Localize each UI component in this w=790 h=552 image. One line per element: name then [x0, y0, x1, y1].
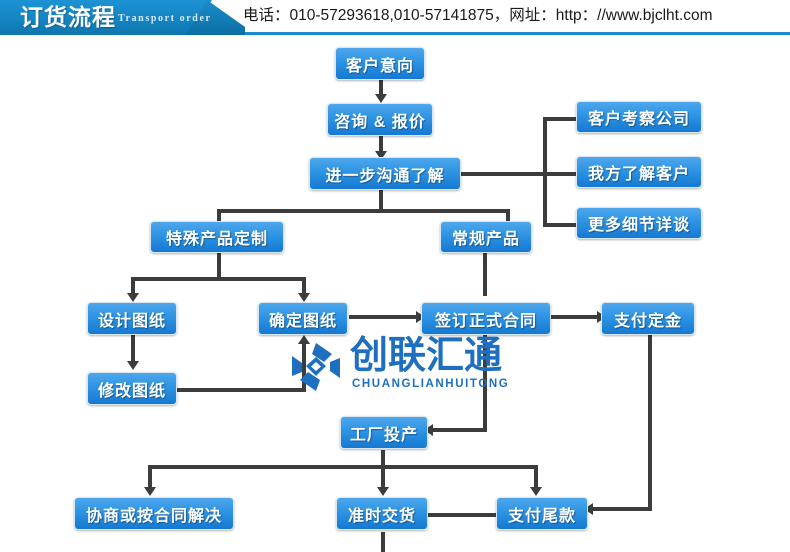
node-confirm-drawing[interactable]: 确定图纸 — [258, 302, 348, 335]
node-consult-quote[interactable]: 咨询 & 报价 — [327, 103, 433, 136]
connector-deposit-to-balance-v — [648, 334, 652, 511]
node-sign-contract[interactable]: 签订正式合同 — [421, 302, 551, 335]
connector-drawing-split-bar — [131, 277, 306, 281]
contact-info: 电话：010-57293618,010-57141875，网址：http：//w… — [243, 4, 713, 28]
connector-branch-customer-visit — [543, 117, 577, 121]
connector-custom-product-down — [217, 252, 221, 280]
connector-design-to-revise — [131, 334, 135, 362]
connector-revise-to-confirm-h — [170, 388, 306, 392]
arrowhead-to-delivery — [377, 487, 389, 496]
connector-to-delivery — [381, 465, 385, 488]
node-customer-intent[interactable]: 客户意向 — [335, 47, 425, 80]
connector-contract-to-factory-v — [483, 334, 487, 432]
connector-delivery-to-balance — [424, 513, 500, 517]
connector-bottom-split-bar — [148, 465, 538, 469]
arrowhead-to-negotiate — [144, 487, 156, 496]
node-pay-balance[interactable]: 支付尾款 — [496, 497, 588, 530]
connector-to-balance — [534, 465, 538, 488]
company-logo: 创联汇通 CHUANGLIANHUITONG — [288, 338, 483, 396]
node-more-details[interactable]: 更多细节详谈 — [576, 207, 702, 239]
connector-contract-to-deposit — [551, 315, 599, 319]
page-header: 订货流程 Transport order 电话：010-57293618,010… — [0, 0, 790, 42]
arrowhead-design-to-revise — [127, 361, 139, 370]
logo-pinwheel-icon — [288, 340, 344, 394]
logo-name-cn: 创联汇通 — [350, 334, 502, 378]
arrowhead-revise-to-confirm — [298, 335, 310, 344]
node-design-drawing[interactable]: 设计图纸 — [87, 302, 177, 335]
connector-to-negotiate — [148, 465, 152, 488]
node-customer-visit[interactable]: 客户考察公司 — [576, 101, 702, 133]
connector-intent-to-quote — [379, 80, 383, 95]
node-pay-deposit[interactable]: 支付定金 — [601, 302, 695, 335]
node-further-communication[interactable]: 进一步沟通了解 — [309, 157, 461, 190]
node-revise-drawing[interactable]: 修改图纸 — [87, 372, 177, 405]
page-subtitle: Transport order — [118, 13, 212, 24]
connector-deposit-to-balance-h — [592, 507, 652, 511]
page-title: 订货流程 — [20, 2, 116, 33]
node-we-understand[interactable]: 我方了解客户 — [576, 156, 702, 188]
arrowhead-to-balance — [530, 487, 542, 496]
connector-standard-to-contract — [483, 252, 487, 296]
node-custom-product[interactable]: 特殊产品定制 — [150, 221, 284, 253]
connector-contract-to-factory-h — [432, 428, 487, 432]
node-factory-production[interactable]: 工厂投产 — [340, 416, 428, 449]
connector-product-split-bar — [217, 209, 510, 213]
node-on-time-delivery[interactable]: 准时交货 — [336, 497, 428, 530]
connector-delivery-down — [381, 532, 385, 552]
order-process-flowchart-page: 订货流程 Transport order 电话：010-57293618,010… — [0, 0, 790, 552]
arrowhead-to-confirm-drawing — [298, 293, 310, 302]
node-negotiate-resolve[interactable]: 协商或按合同解决 — [74, 497, 234, 530]
connector-communication-to-right-trunk — [461, 172, 547, 176]
connector-branch-more-details — [543, 223, 577, 227]
arrowhead-intent-to-quote — [375, 94, 387, 103]
arrowhead-to-design-drawing — [127, 293, 139, 302]
connector-revise-to-confirm-v — [302, 344, 306, 390]
connector-confirm-to-contract — [349, 315, 417, 319]
node-standard-product[interactable]: 常规产品 — [440, 221, 532, 253]
connector-quote-to-communication — [379, 136, 383, 152]
connector-branch-we-understand — [543, 172, 577, 176]
